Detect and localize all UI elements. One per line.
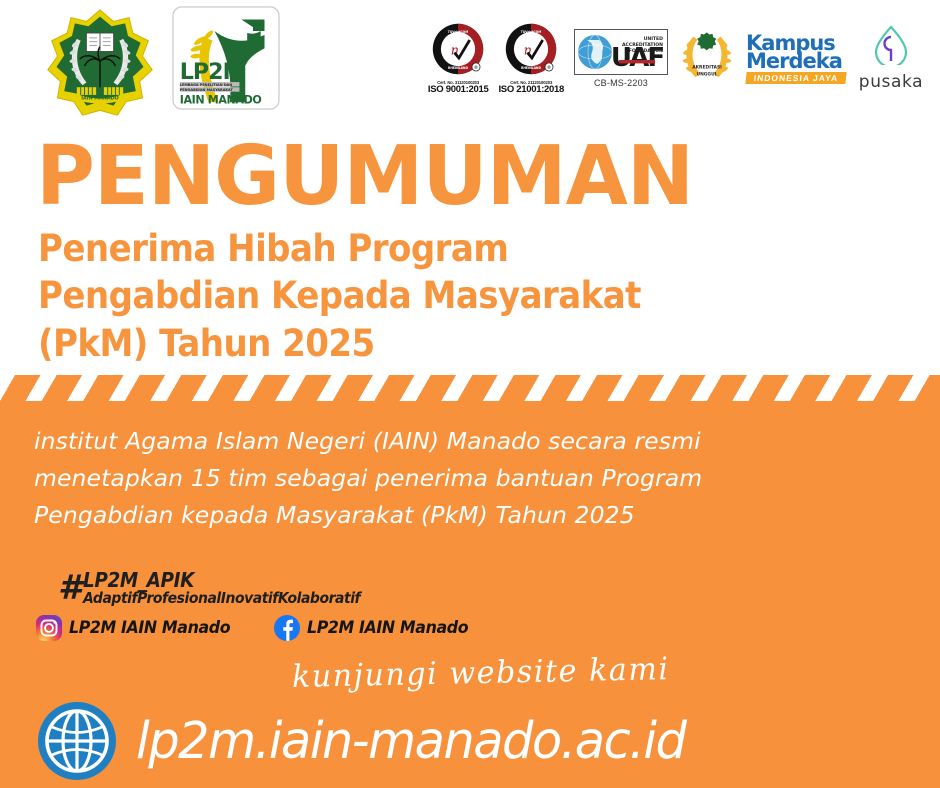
- svg-text:RHEINLAND: RHEINLAND: [448, 66, 469, 70]
- svg-text:LEMBAGA PENELITIAN DAN: LEMBAGA PENELITIAN DAN: [180, 83, 233, 87]
- hash-symbol-icon: #: [58, 571, 82, 605]
- uaf-globe-icon: UAF UNITED ACCREDITATION FOUNDATION: [575, 30, 667, 74]
- instagram-link[interactable]: LP2M IAIN Manado: [36, 615, 242, 641]
- subtitle-line-3: (PkM) Tahun 2025: [38, 320, 641, 367]
- website-url[interactable]: lp2m.iain-manado.ac.id: [136, 712, 685, 771]
- svg-text:FOUNDATION: FOUNDATION: [629, 48, 663, 54]
- lp2m-logo-icon: LP2M LEMBAGA PENELITIAN DAN PENGABDIAN M…: [172, 6, 280, 110]
- tuv-mark-icon: n RHEINLAND TUVdotCOM ®: [504, 22, 558, 76]
- svg-text:PENGABDIAN MASYARAKAT: PENGABDIAN MASYARAKAT: [180, 88, 234, 92]
- svg-text:TUVdotCOM: TUVdotCOM: [448, 30, 469, 34]
- svg-text:LP2M: LP2M: [180, 59, 244, 85]
- website-row[interactable]: lp2m.iain-manado.ac.id: [36, 700, 702, 782]
- iain-manado-emblem-icon: IAIN MANADO: [42, 6, 158, 122]
- instagram-handle: LP2M IAIN Manado: [69, 618, 230, 638]
- globe-icon: [36, 700, 118, 782]
- uaf-code: CB-MS-2203: [574, 78, 668, 88]
- iso-9001-badge: n RHEINLAND TUVdotCOM ® Cert. No. 311201…: [428, 22, 489, 96]
- kampus-merdeka-logo: Kampus Merdeka INDONESIA JAYA: [746, 34, 846, 84]
- svg-text:UNITED: UNITED: [644, 36, 664, 42]
- title-section: PENGUMUMAN Penerima Hibah Program Pengab…: [0, 130, 940, 375]
- svg-text:IAIN MANADO: IAIN MANADO: [180, 93, 262, 106]
- svg-text:ACCREDITATION: ACCREDITATION: [622, 42, 663, 48]
- poster-header: IAIN MANADO: [0, 0, 940, 130]
- kampus-merdeka-ribbon: INDONESIA JAYA: [745, 72, 846, 84]
- subtitle-line-1: Penerima Hibah Program: [38, 225, 641, 272]
- svg-text:AKREDITASI: AKREDITASI: [692, 65, 722, 71]
- kampus-merdeka-line2: Merdeka: [746, 52, 846, 71]
- pusaka-logo: pusaka: [856, 25, 926, 92]
- website-caption: kunjungi website kami: [292, 651, 670, 695]
- hashtag-block: # LP2M_APIK AdaptifProfesionalInovatifKo…: [58, 570, 391, 607]
- accreditation-logos: n RHEINLAND TUVdotCOM ® Cert. No. 311201…: [428, 22, 926, 96]
- page-title: PENGUMUMAN: [36, 138, 693, 216]
- content-section: institut Agama Islam Negeri (IAIN) Manad…: [0, 401, 940, 788]
- social-links: LP2M IAIN Manado LP2M IAIN Manado: [36, 615, 481, 641]
- iso-9001-standard: ISO 9001:2015: [428, 85, 489, 95]
- tuv-mark-icon: n RHEINLAND TUVdotCOM ®: [431, 22, 485, 76]
- subtitle-line-2: Pengabdian Kepada Masyarakat: [38, 272, 641, 319]
- facebook-handle: LP2M IAIN Manado: [307, 618, 468, 638]
- facebook-link[interactable]: LP2M IAIN Manado: [274, 615, 480, 641]
- uaf-badge: UAF UNITED ACCREDITATION FOUNDATION CB-M…: [574, 29, 668, 88]
- pusaka-name: pusaka: [856, 72, 926, 92]
- striped-divider: [0, 375, 940, 401]
- pusaka-leaf-icon: [874, 25, 908, 65]
- institution-logos: IAIN MANADO: [42, 6, 280, 122]
- svg-text:RHEINLAND: RHEINLAND: [521, 66, 542, 70]
- svg-text:UNGGUL: UNGGUL: [696, 72, 717, 78]
- akreditasi-unggul-icon: AKREDITASI UNGGUL: [678, 27, 736, 90]
- announcement-body: institut Agama Islam Negeri (IAIN) Manad…: [34, 423, 824, 534]
- svg-text:TUVdotCOM: TUVdotCOM: [521, 30, 542, 34]
- hashtag-tag: LP2M_APIK: [83, 570, 366, 590]
- svg-text:IAIN MANADO: IAIN MANADO: [81, 95, 118, 101]
- iso-21001-badge: n RHEINLAND TUVdotCOM ® Cert. No. 211201…: [498, 22, 564, 96]
- announcement-poster: IAIN MANADO: [0, 0, 940, 788]
- iso-21001-standard: ISO 21001:2018: [498, 85, 564, 95]
- page-subtitle: Penerima Hibah Program Pengabdian Kepada…: [38, 225, 641, 367]
- instagram-icon: [36, 615, 62, 641]
- facebook-icon: [274, 615, 300, 641]
- hashtag-expansion: AdaptifProfesionalInovatifKolaboratif: [83, 591, 360, 607]
